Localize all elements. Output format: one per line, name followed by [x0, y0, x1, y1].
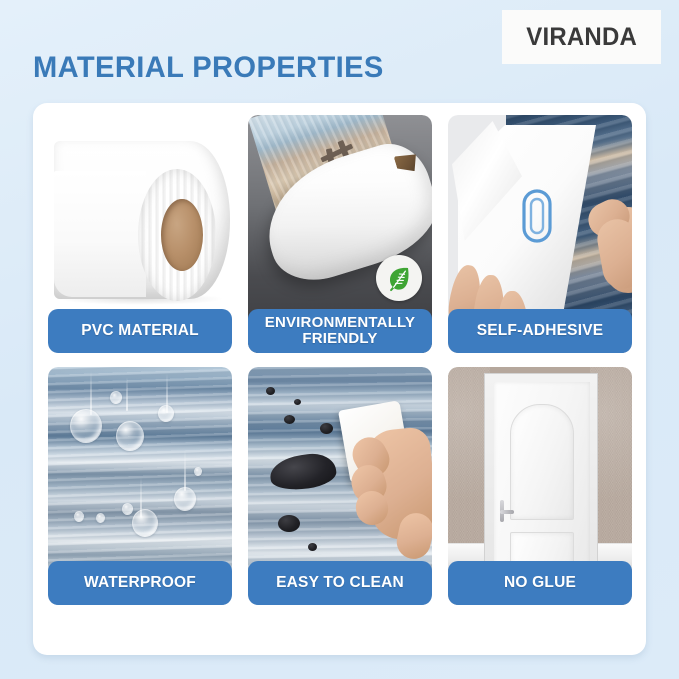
feature-label-waterproof: WATERPROOF [48, 561, 232, 605]
water-droplet [110, 391, 122, 404]
feature-label-environmentally-friendly: ENVIRONMENTALLY FRIENDLY [248, 309, 432, 353]
features-panel: PVC MATERIAL [33, 103, 646, 655]
feature-card-pvc-material[interactable]: PVC MATERIAL [48, 115, 232, 353]
feature-label-line2: FRIENDLY [265, 331, 416, 347]
water-droplet [96, 513, 105, 523]
feature-label-no-glue: NO GLUE [448, 561, 632, 605]
stain-spot [278, 515, 300, 532]
eco-badge [376, 255, 422, 301]
water-streak [90, 371, 92, 415]
water-droplet [158, 405, 174, 422]
door-panel-top [510, 404, 574, 520]
water-droplet [122, 503, 133, 515]
water-droplet [116, 421, 144, 451]
water-droplet [194, 467, 202, 476]
stain-spot [284, 415, 295, 424]
roll-sheet [54, 171, 146, 297]
feature-card-easy-to-clean[interactable]: EASY TO CLEAN [248, 367, 432, 605]
paperclip-icon [520, 187, 554, 245]
door-handle-lever [500, 510, 514, 514]
feature-label-line1: ENVIRONMENTALLY [265, 314, 416, 331]
door-frame [484, 373, 598, 581]
stain-spot [294, 399, 301, 405]
leaf-icon [384, 263, 414, 293]
feature-label-pvc-material: PVC MATERIAL [48, 309, 232, 353]
roll-core-icon [161, 199, 203, 271]
water-droplet [174, 487, 196, 511]
stain-spot [266, 387, 275, 395]
roll-body [54, 141, 230, 299]
feature-card-self-adhesive[interactable]: SELF-ADHESIVE [448, 115, 632, 353]
water-droplet [70, 409, 102, 443]
stain-spot [320, 423, 333, 434]
brand-name: VIRANDA [526, 23, 637, 52]
brand-logo: VIRANDA [502, 10, 661, 64]
paperclip-badge [520, 187, 554, 250]
feature-label-self-adhesive: SELF-ADHESIVE [448, 309, 632, 353]
feature-card-waterproof[interactable]: WATERPROOF [48, 367, 232, 605]
stain-spot [308, 543, 317, 551]
water-droplet [132, 509, 158, 537]
feature-label-easy-to-clean: EASY TO CLEAN [248, 561, 432, 605]
feature-card-environmentally-friendly[interactable]: ENVIRONMENTALLY FRIENDLY [248, 115, 432, 353]
water-streak [184, 449, 186, 491]
feature-card-no-glue[interactable]: NO GLUE [448, 367, 632, 605]
door-leaf [494, 382, 590, 582]
page-header: MATERIAL PROPERTIES VIRANDA [0, 0, 679, 103]
page-title: MATERIAL PROPERTIES [33, 51, 384, 85]
features-grid: PVC MATERIAL [48, 115, 632, 643]
water-droplet [74, 511, 84, 522]
water-streak [126, 377, 128, 411]
